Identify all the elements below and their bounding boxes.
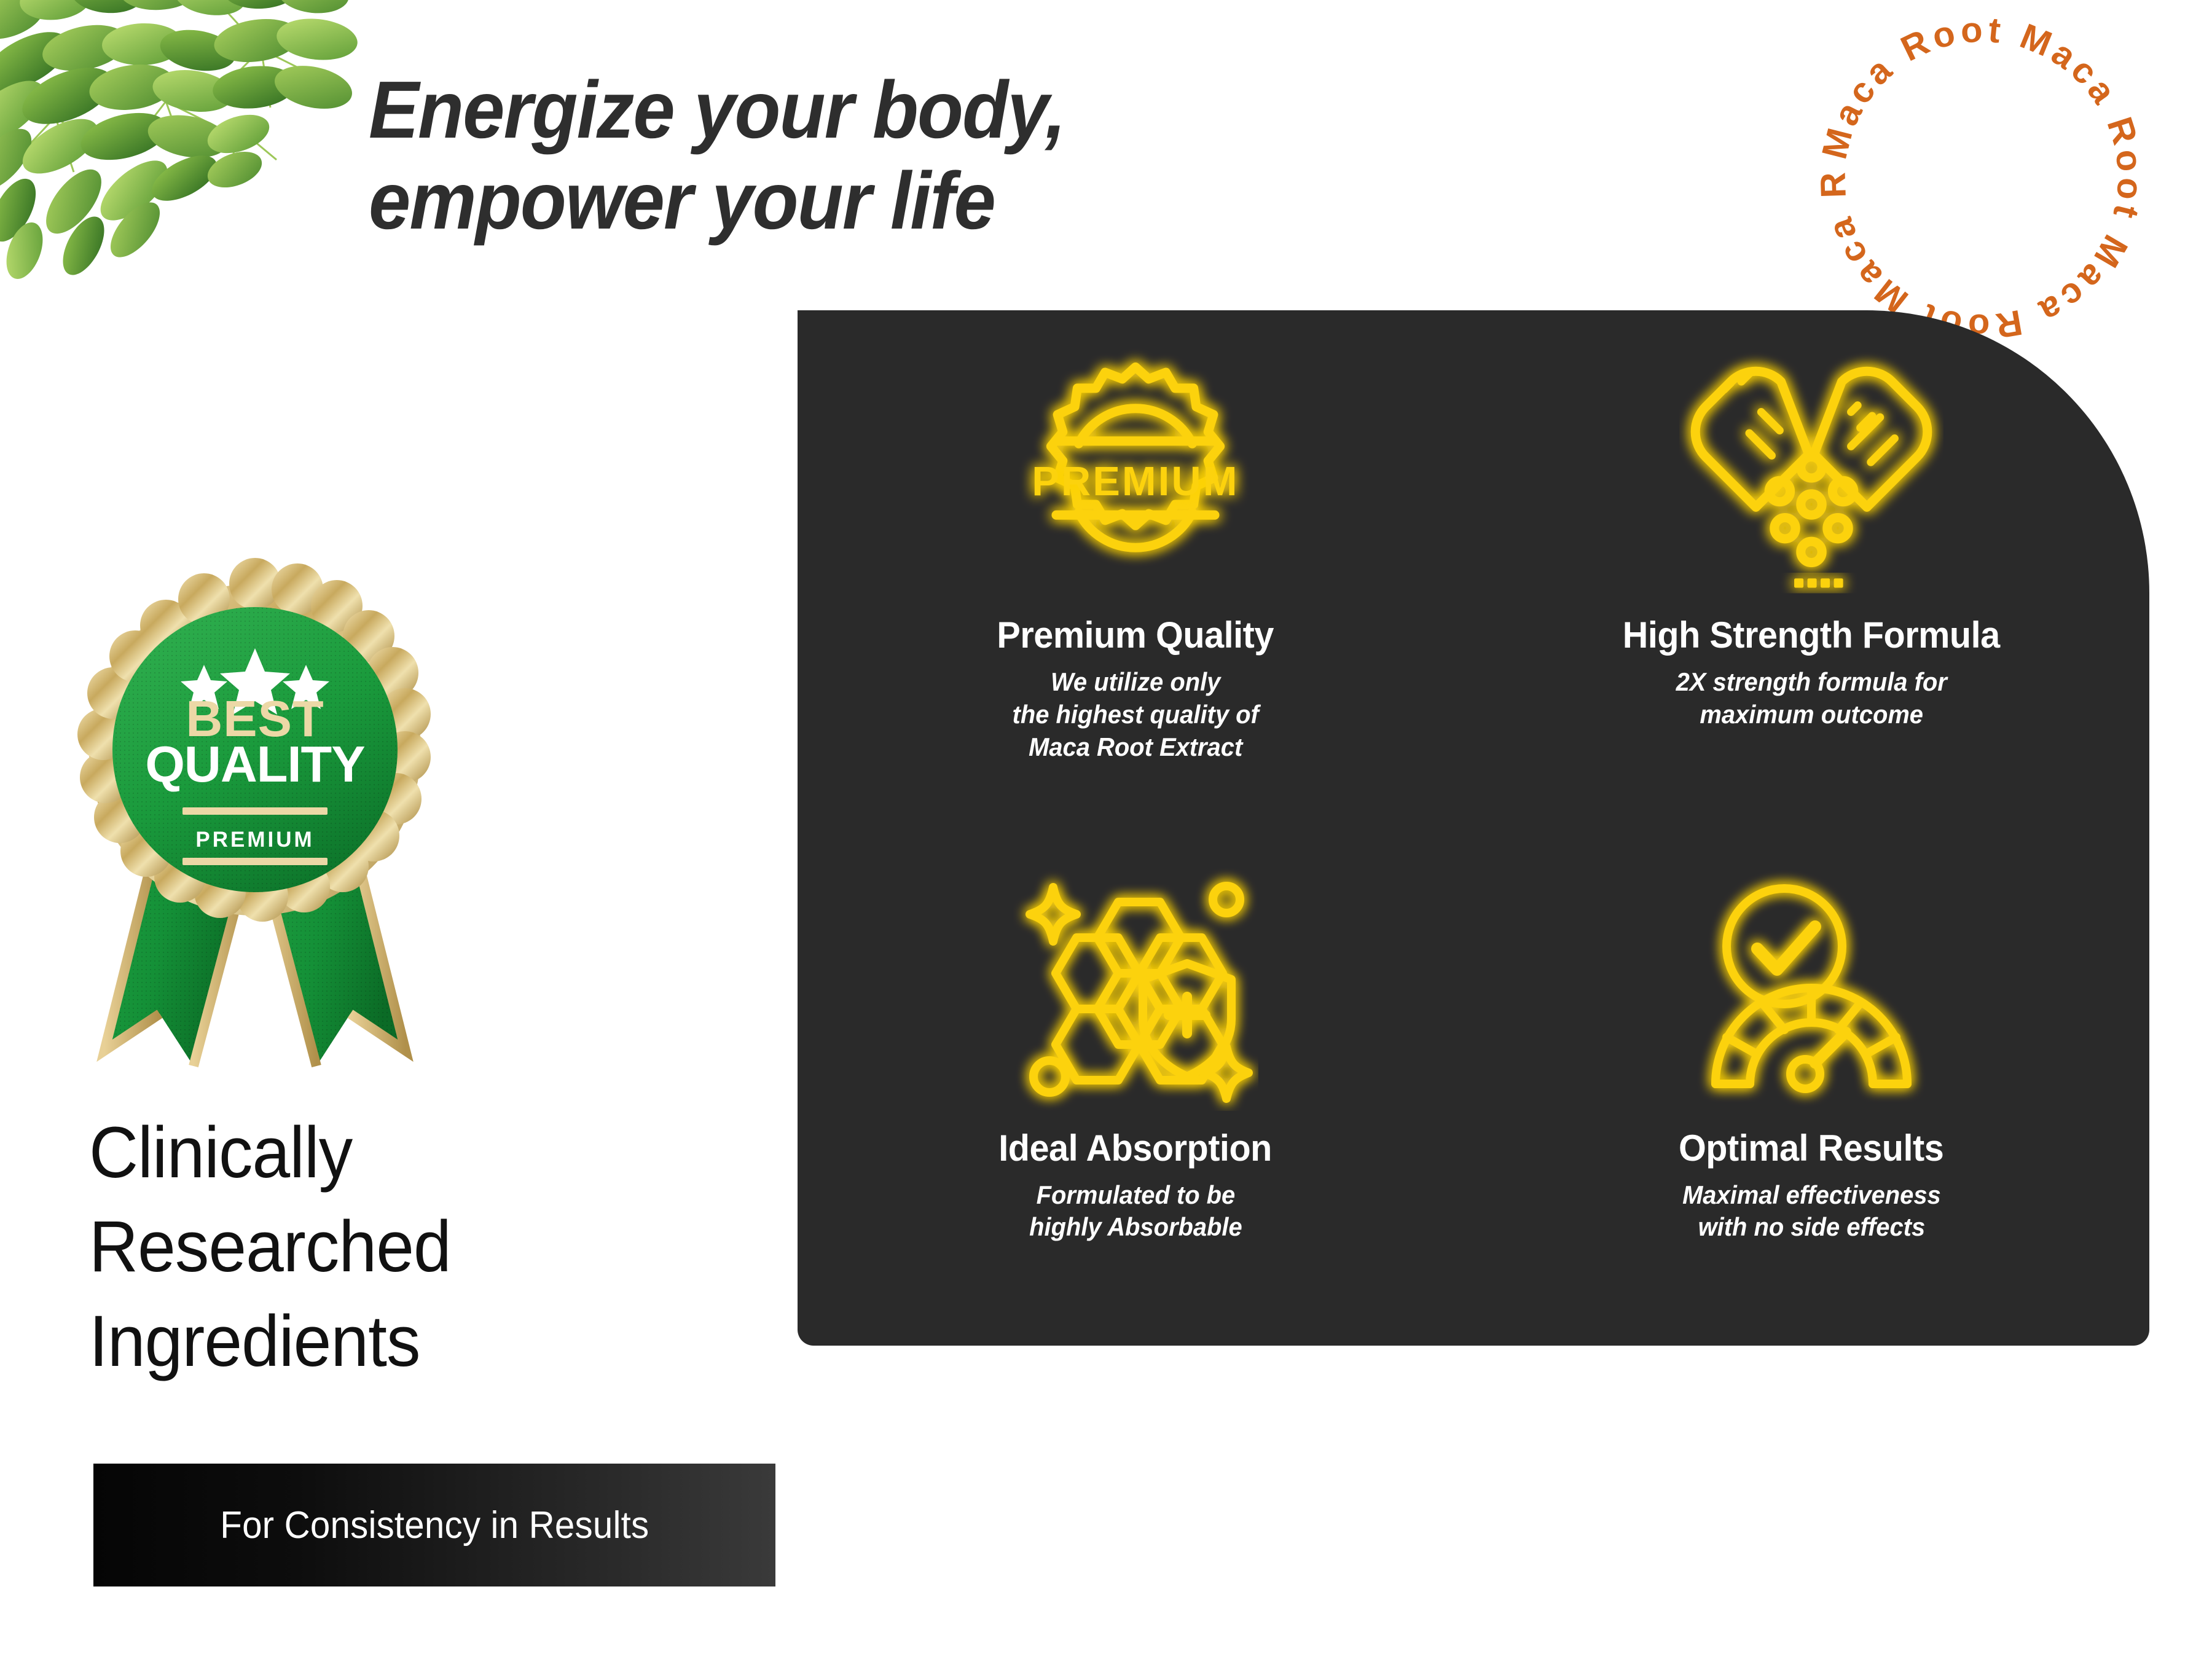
claim-heading: Clinically Researched Ingredients (89, 1106, 753, 1389)
claim-line-1: Clinically (89, 1106, 753, 1200)
stamp-circular-text: Maca Root Maca Root Maca Root Maca Root (1797, 0, 2151, 347)
feature-card-optimal-results: Optimal Results Maximal effectiveness wi… (1473, 828, 2149, 1346)
infographic-canvas: Energize your body, empower your life Ma… (0, 0, 2212, 1659)
feature-title: Optimal Results (1679, 1127, 1943, 1169)
plant-leaves-decoration (0, 0, 375, 295)
premium-seal-label: PREMIUM (1032, 459, 1239, 504)
feature-description: Maximal effectiveness with no side effec… (1682, 1179, 1941, 1244)
desc-line: Maca Root Extract (1012, 731, 1258, 764)
feature-description: We utilize only the highest quality of M… (1012, 666, 1258, 764)
desc-line: maximum outcome (1676, 699, 1947, 731)
rosette-medal: BEST QUALITY PREMIUM (77, 558, 431, 922)
features-panel: PREMIUM Premium Quality We utilize only … (798, 310, 2149, 1346)
badge-premium-label: PREMIUM (195, 828, 314, 852)
feature-card-premium-quality: PREMIUM Premium Quality We utilize only … (798, 310, 1473, 828)
desc-line: the highest quality of (1012, 699, 1258, 731)
best-quality-award-badge: BEST QUALITY PREMIUM (68, 547, 442, 1094)
badge-divider-top (182, 807, 327, 815)
honeycomb-shield-icon (1013, 865, 1258, 1111)
tagline-text: For Consistency in Results (220, 1504, 649, 1547)
feature-description: 2X strength formula for maximum outcome (1676, 666, 1947, 731)
feature-card-ideal-absorption: Ideal Absorption Formulated to be highly… (798, 828, 1473, 1346)
headline-line-1: Energize your body, (369, 65, 1569, 155)
desc-line: Formulated to be (1029, 1179, 1242, 1212)
badge-quality-label: QUALITY (145, 735, 365, 793)
premium-seal-icon: PREMIUM (1003, 346, 1268, 610)
desc-line: highly Absorbable (1029, 1211, 1242, 1244)
desc-line: We utilize only (1012, 666, 1258, 699)
open-capsule-icon (1679, 346, 1943, 610)
feature-card-high-strength-formula: High Strength Formula 2X strength formul… (1473, 310, 2149, 828)
feature-title: High Strength Formula (1623, 614, 2000, 656)
claim-line-3: Ingredients (89, 1295, 753, 1389)
maca-root-circular-stamp: Maca Root Maca Root Maca Root Maca Root (1797, 0, 2166, 363)
desc-line: 2X strength formula for (1676, 666, 1947, 699)
svg-text:Maca Root Maca Root Maca Root: Maca Root Maca Root Maca Root Maca Root (1797, 0, 2151, 347)
tagline-bar: For Consistency in Results (93, 1464, 775, 1586)
page-headline: Energize your body, empower your life (369, 65, 1569, 246)
feature-title: Ideal Absorption (999, 1127, 1273, 1169)
claim-line-2: Researched (89, 1200, 753, 1294)
gauge-check-icon (1688, 865, 1934, 1111)
feature-title: Premium Quality (997, 614, 1274, 656)
headline-line-2: empower your life (369, 155, 1569, 246)
badge-divider-bottom (182, 858, 327, 865)
desc-line: with no side effects (1682, 1211, 1941, 1244)
desc-line: Maximal effectiveness (1682, 1179, 1941, 1212)
feature-description: Formulated to be highly Absorbable (1029, 1179, 1242, 1244)
